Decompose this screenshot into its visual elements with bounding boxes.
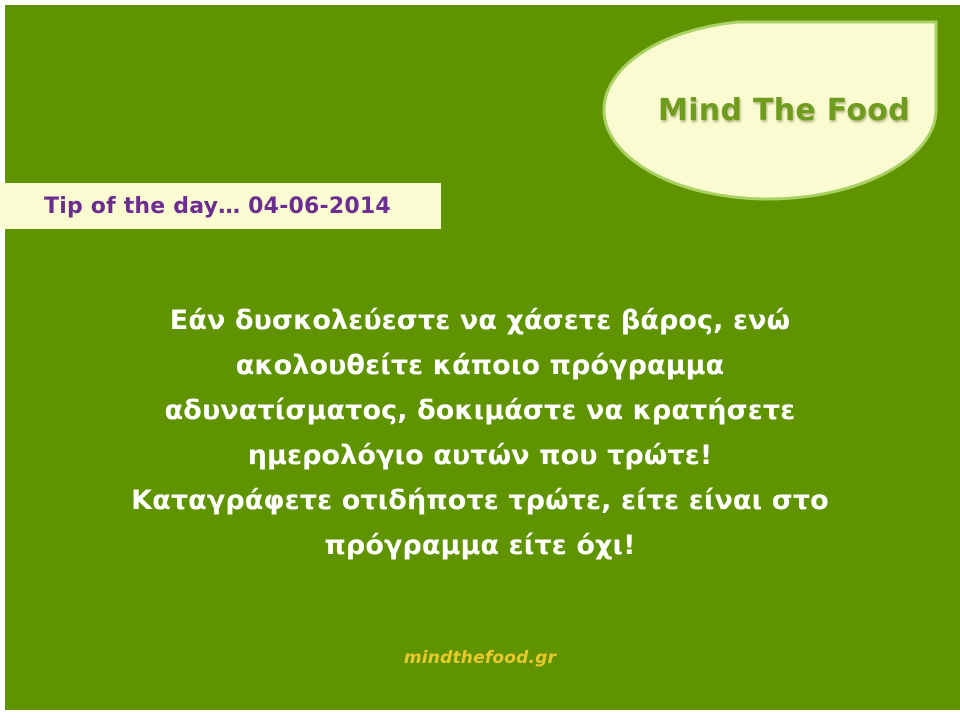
logo-container: Mind The Food [598,18,938,203]
footer-site-name: mindthefood.gr [0,648,960,668]
tip-message-line: πρόγραμμα είτε όχι! [80,523,880,568]
tip-of-the-day-label: Tip of the day… 04-06-2014 [44,194,391,219]
tip-message-line: ακολουθείτε κάποιο πρόγραμμα [80,343,880,388]
tip-message-line: Εάν δυσκολεύεστε να χάσετε βάρος, ενώ [80,298,880,343]
tip-message-line: Καταγράφετε οτιδήποτε τρώτε, είτε είναι … [80,478,880,523]
logo-title: Mind The Food [598,18,938,203]
tip-message-line: αδυνατίσματος, δοκιμάστε να κρατήσετε [80,388,880,433]
tip-of-the-day-banner: Tip of the day… 04-06-2014 [0,183,441,229]
slide-canvas: Mind The Food Tip of the day… 04-06-2014… [0,0,960,720]
tip-message-line: ημερολόγιο αυτών που τρώτε! [80,433,880,478]
tip-message: Εάν δυσκολεύεστε να χάσετε βάρος, ενώ ακ… [80,298,880,568]
